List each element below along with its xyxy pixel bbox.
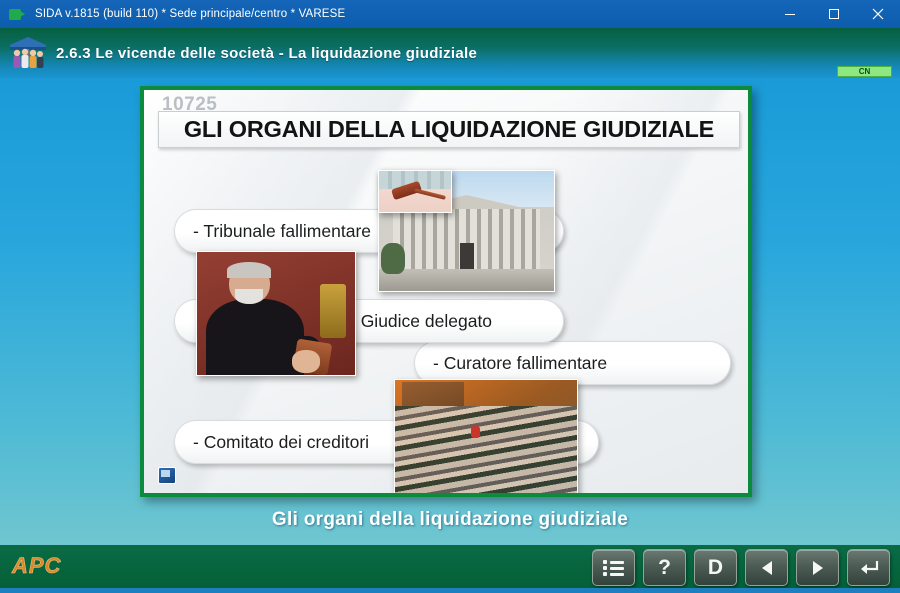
help-button[interactable]: ? xyxy=(643,549,686,586)
application-window: SIDA v.1815 (build 110) * Sede principal… xyxy=(0,0,900,593)
previous-button[interactable] xyxy=(745,549,788,586)
title-bar: SIDA v.1815 (build 110) * Sede principal… xyxy=(0,0,900,28)
camera-icon xyxy=(9,8,26,21)
window-title: SIDA v.1815 (build 110) * Sede principal… xyxy=(35,8,345,20)
minimize-icon[interactable] xyxy=(768,0,812,28)
slide-panel: 10725 GLI ORGANI DELLA LIQUIDAZIONE GIUD… xyxy=(140,86,752,497)
enter-return-icon xyxy=(858,559,880,577)
slide-caption: Gli organi della liquidazione giudiziale xyxy=(0,502,900,538)
next-button[interactable] xyxy=(796,549,839,586)
close-icon[interactable] xyxy=(856,0,900,28)
slide-title: GLI ORGANI DELLA LIQUIDAZIONE GIUDIZIALE xyxy=(184,116,714,143)
audience-photo xyxy=(394,379,578,497)
index-button[interactable] xyxy=(592,549,635,586)
window-controls xyxy=(768,0,900,28)
footer-toolbar: ? D xyxy=(592,549,890,586)
bottom-accent-strip xyxy=(0,588,900,593)
callout-label: - Tribunale fallimentare xyxy=(175,221,371,242)
judge-photo xyxy=(196,251,356,376)
question-mark-icon: ? xyxy=(658,557,671,578)
people-group-icon xyxy=(6,31,50,75)
module-header: 2.6.3 Le vicende delle società - La liqu… xyxy=(0,28,900,78)
left-arrow-icon xyxy=(757,559,777,577)
slide-thumbnail-icon[interactable] xyxy=(158,467,176,484)
list-icon xyxy=(603,559,624,576)
right-arrow-icon xyxy=(808,559,828,577)
callout-label: - Comitato dei creditori xyxy=(175,432,369,453)
gavel-photo xyxy=(378,170,452,213)
callout-label: - Curatore fallimentare xyxy=(415,353,607,374)
slide-title-box: GLI ORGANI DELLA LIQUIDAZIONE GIUDIZIALE xyxy=(158,111,740,148)
letter-d-icon: D xyxy=(708,557,723,578)
dictionary-button[interactable]: D xyxy=(694,549,737,586)
enter-button[interactable] xyxy=(847,549,890,586)
page-title: 2.6.3 Le vicende delle società - La liqu… xyxy=(56,45,477,62)
apc-logo: APC xyxy=(12,553,61,579)
maximize-icon[interactable] xyxy=(812,0,856,28)
status-badge-label: CN xyxy=(837,66,892,77)
